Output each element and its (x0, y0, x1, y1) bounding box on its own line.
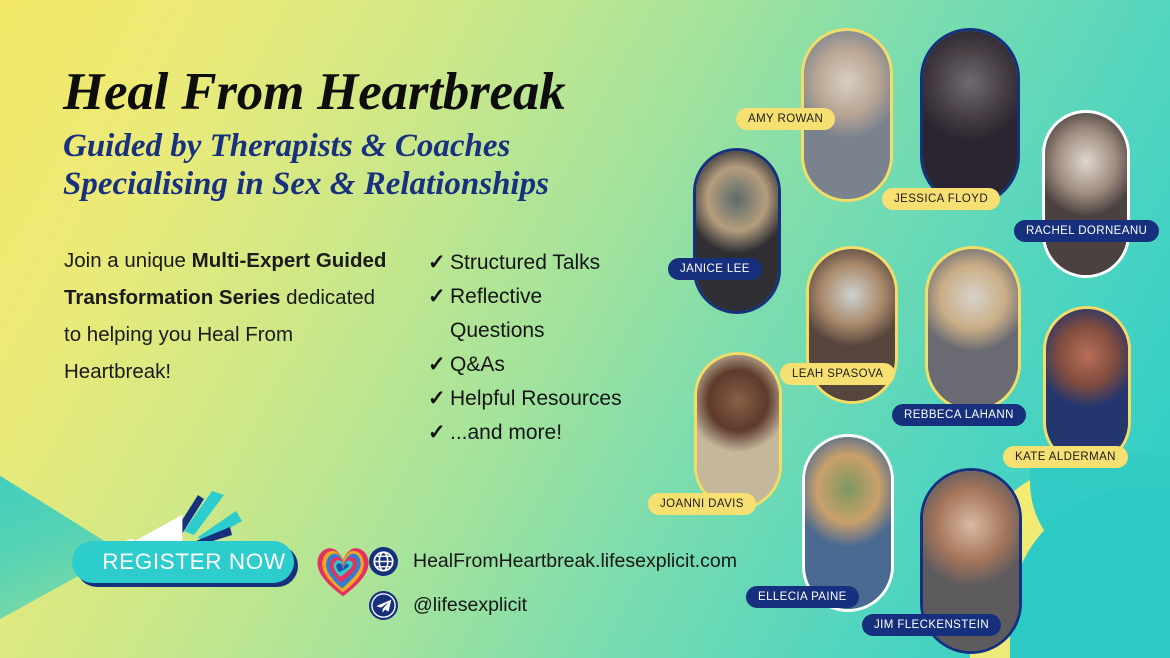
intro-paragraph: Join a unique Multi-Expert Guided Transf… (64, 242, 394, 390)
subtitle-line-2: Specialising in Sex & Relationships (63, 165, 663, 203)
page-subtitle: Guided by Therapists & Coaches Specialis… (63, 127, 663, 203)
check-icon: ✓ (428, 382, 450, 416)
globe-icon (368, 546, 399, 577)
speaker-photo (1043, 306, 1131, 466)
contact-row-website[interactable]: HealFromHeartbreak.lifesexplicit.com (368, 542, 737, 580)
intro-lead: Join a unique (64, 249, 192, 272)
heart-logo (312, 540, 374, 602)
speaker-photo (925, 246, 1021, 412)
speaker-portrait (1046, 309, 1128, 463)
checklist-item: ✓Reflective (428, 280, 668, 314)
speaker-portrait (1045, 113, 1127, 275)
speaker-name-badge: JESSICA FLOYD (882, 188, 1000, 210)
checklist-item: ✓Structured Talks (428, 246, 668, 280)
check-icon: ✓ (428, 348, 450, 382)
speaker-portrait (697, 355, 779, 507)
speaker-photo (1042, 110, 1130, 278)
checklist-item-continuation: Questions (428, 314, 668, 348)
speaker-name-badge: JIM FLECKENSTEIN (862, 614, 1001, 636)
benefits-checklist: ✓Structured Talks✓ReflectiveQuestions✓Q&… (428, 246, 668, 450)
speaker-name-badge: LEAH SPASOVA (780, 363, 895, 385)
speaker-name-badge: RACHEL DORNEANU (1014, 220, 1159, 242)
register-cta[interactable]: REGISTER NOW (62, 489, 302, 599)
contact-row-telegram[interactable]: @lifesexplicit (368, 586, 737, 624)
telegram-handle: @lifesexplicit (413, 594, 527, 617)
check-icon: ✓ (428, 280, 450, 314)
page-title: Heal From Heartbreak (63, 62, 565, 122)
check-icon: ✓ (428, 416, 450, 450)
check-icon: ✓ (428, 246, 450, 280)
speaker-portrait (805, 437, 891, 609)
register-button-label: REGISTER NOW (72, 541, 294, 583)
promotional-poster: AMY ROWANJESSICA FLOYDRACHEL DORNEANUJAN… (0, 0, 1170, 658)
speaker-name-badge: AMY ROWAN (736, 108, 835, 130)
website-url: HealFromHeartbreak.lifesexplicit.com (413, 550, 737, 573)
speaker-name-badge: ELLECIA PAINE (746, 586, 859, 608)
speaker-name-badge: KATE ALDERMAN (1003, 446, 1128, 468)
checklist-item-label: Structured Talks (450, 246, 600, 280)
speaker-photo (694, 352, 782, 510)
subtitle-line-1: Guided by Therapists & Coaches (63, 128, 510, 164)
speaker-portrait (696, 151, 778, 311)
speaker-photo (920, 28, 1020, 206)
speaker-portrait (923, 31, 1017, 203)
speaker-name-badge: REBBECA LAHANN (892, 404, 1026, 426)
checklist-item: ✓...and more! (428, 416, 668, 450)
checklist-item-label: Helpful Resources (450, 382, 622, 416)
checklist-item-label: ...and more! (450, 416, 562, 450)
intro-bold-1: Multi-Expert (192, 249, 310, 272)
checklist-item-label: Q&As (450, 348, 505, 382)
checklist-item-label: Reflective (450, 280, 542, 314)
speaker-portrait (928, 249, 1018, 409)
checklist-item: ✓Q&As (428, 348, 668, 382)
content-column: Heal From Heartbreak Guided by Therapist… (0, 0, 690, 658)
checklist-item: ✓Helpful Resources (428, 382, 668, 416)
speaker-photo (693, 148, 781, 314)
telegram-icon (368, 590, 399, 621)
contact-block: HealFromHeartbreak.lifesexplicit.com @li… (368, 542, 737, 630)
